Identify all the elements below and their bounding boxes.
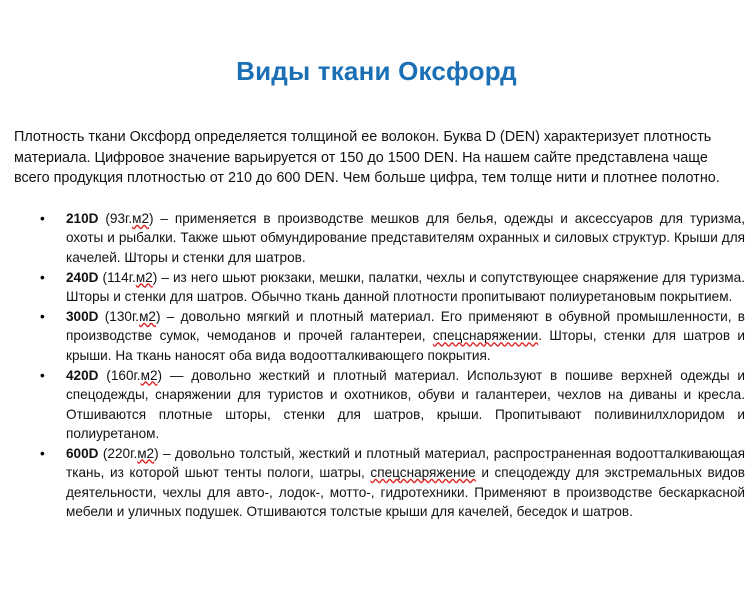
bullet-marker-icon: • bbox=[40, 307, 50, 326]
fabric-weight-prefix: (93г. bbox=[99, 211, 133, 226]
fabric-dash: – bbox=[161, 309, 181, 324]
fabric-dash: – bbox=[157, 270, 173, 285]
fabric-grade-label: 210D bbox=[66, 211, 99, 226]
fabric-dash: – bbox=[159, 446, 175, 461]
fabric-weight-prefix: (220г. bbox=[99, 446, 138, 461]
fabric-dash: — bbox=[162, 368, 191, 383]
fabric-density-list: • 210D (93г.м2) – применяется в производ… bbox=[0, 209, 753, 522]
fabric-weight-prefix: (160г. bbox=[99, 368, 141, 383]
bullet-marker-icon: • bbox=[40, 444, 50, 463]
list-item: • 300D (130г.м2) – довольно мягкий и пло… bbox=[0, 307, 753, 365]
fabric-weight-unit-misspelled: м2 bbox=[139, 309, 156, 324]
fabric-grade-label: 300D bbox=[66, 309, 99, 324]
bullet-marker-icon: • bbox=[40, 366, 50, 385]
intro-paragraph: Плотность ткани Оксфорд определяется тол… bbox=[14, 127, 736, 188]
fabric-grade-label: 240D bbox=[66, 270, 99, 285]
fabric-dash: – bbox=[154, 211, 175, 226]
fabric-weight-prefix: (130г. bbox=[99, 309, 140, 324]
fabric-weight-unit-misspelled: м2 bbox=[132, 211, 149, 226]
list-item: • 600D (220г.м2) – довольно толстый, жес… bbox=[0, 444, 753, 522]
list-item: • 210D (93г.м2) – применяется в производ… bbox=[0, 209, 753, 267]
bullet-marker-icon: • bbox=[40, 268, 50, 287]
list-item: • 420D (160г.м2) — довольно жесткий и пл… bbox=[0, 366, 753, 444]
fabric-grade-label: 420D bbox=[66, 368, 99, 383]
fabric-weight-unit-misspelled: м2 bbox=[137, 446, 154, 461]
list-item: • 240D (114г.м2) – из него шьют рюкзаки,… bbox=[0, 268, 753, 307]
page-title: Виды ткани Оксфорд bbox=[0, 56, 753, 86]
document-page: Виды ткани Оксфорд Плотность ткани Оксфо… bbox=[0, 0, 753, 609]
fabric-grade-label: 600D bbox=[66, 446, 99, 461]
fabric-description-misspelled: спецснаряжение bbox=[370, 465, 475, 480]
bullet-marker-icon: • bbox=[40, 209, 50, 228]
fabric-weight-unit-misspelled: м2 bbox=[141, 368, 158, 383]
fabric-weight-unit-misspelled: м2 bbox=[136, 270, 153, 285]
fabric-description-misspelled: спецснаряжении bbox=[433, 328, 538, 343]
fabric-weight-prefix: (114г. bbox=[99, 270, 136, 285]
